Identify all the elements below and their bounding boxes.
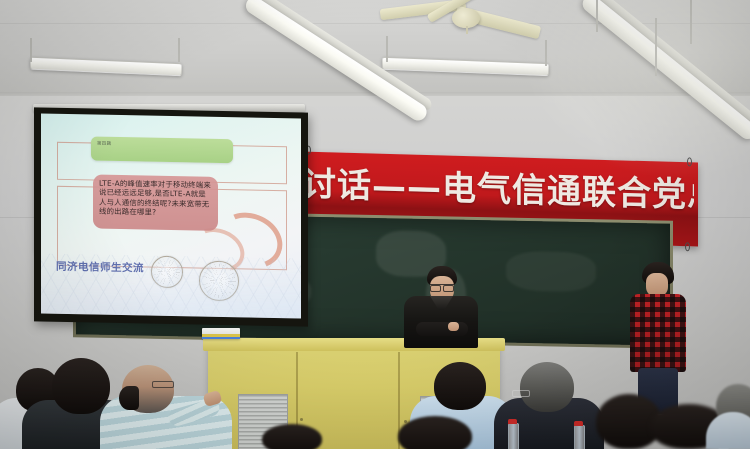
banner-hook [685,242,690,251]
presentation-slide: 第四题 LTE-A的峰值速率对于移动终端来说已经远远足够,是否LTE-A就是人与… [41,114,301,319]
student-in-plaid-shirt [630,262,688,414]
water-bottle[interactable] [574,425,585,449]
projection-screen[interactable]: 第四题 LTE-A的峰值速率对于移动终端来说已经远远足够,是否LTE-A就是人与… [34,107,308,326]
light-hanger-rod [545,40,547,66]
plaid-shirt [630,294,686,372]
audience-hair-side [119,386,139,410]
light-hanger-rod [596,0,598,32]
light-hanger-rod [690,0,692,44]
bottle-cap [508,419,517,424]
presenter-crossed-arms [416,322,468,336]
slide-question-text: LTE-A的峰值速率对于移动终端来说已经远远足够,是否LTE-A就是人与人通信的… [99,179,212,219]
fan-hub [452,8,480,28]
chalk-smudge [506,251,596,293]
chalk-box[interactable] [202,328,240,339]
light-hanger-rod [386,36,388,62]
slide-footer-text: 同济电信师生交流 [56,262,144,275]
chalk-box-stripe [202,337,240,339]
presenter [404,266,478,346]
light-hanger-rod [178,38,180,62]
bottle-cap [574,421,583,426]
slide-title-bar: 第四题 [91,136,233,163]
fan-downrod [466,26,468,34]
presenter-hand [448,322,459,331]
classroom-photo: 讨话——电气信通联合党总支 第四题 [0,0,750,449]
audience-head-gray [520,362,574,412]
eyeglasses-icon [512,390,530,397]
banner-hook [687,157,692,166]
slide-question-box: LTE-A的峰值速率对于移动终端来说已经远远足够,是否LTE-A就是人与人通信的… [93,175,218,231]
light-hanger-rod [655,18,657,76]
water-bottle[interactable] [508,423,519,449]
slide-title-label: 第四题 [97,141,111,147]
eyeglasses-icon [152,381,174,388]
audience-head [398,416,472,449]
audience-head [262,424,322,449]
light-hanger-rod [30,38,32,62]
lectern-knob[interactable] [300,418,303,421]
audience-head [434,362,486,410]
eyeglasses-icon [430,284,454,290]
audience-head [52,358,110,414]
